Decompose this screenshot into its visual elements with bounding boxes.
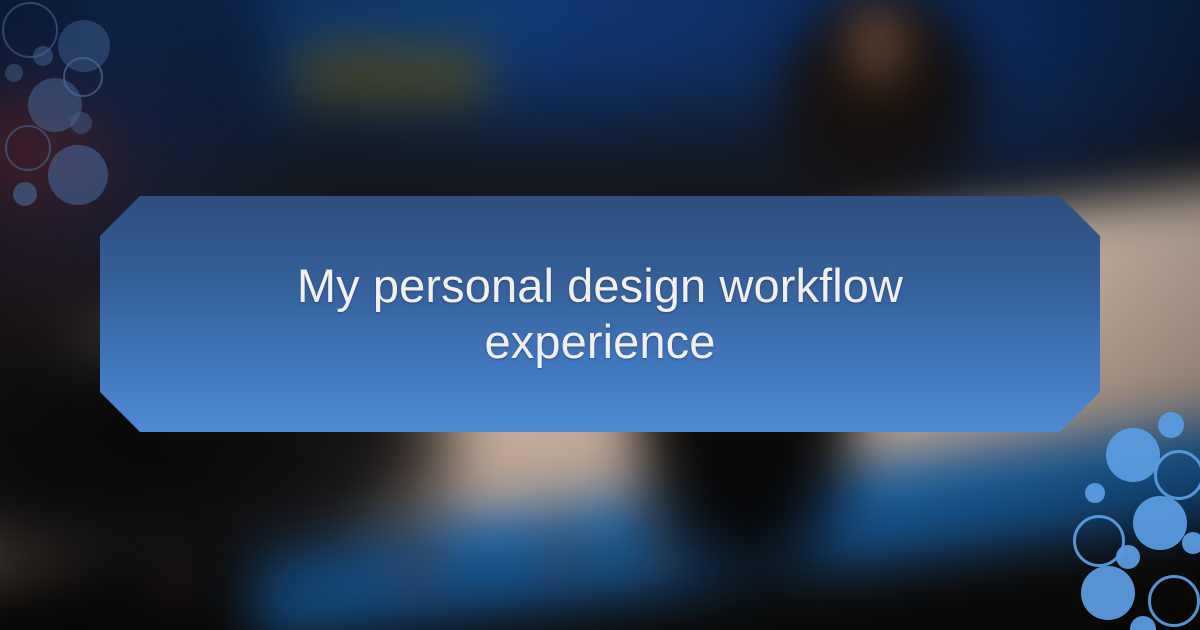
title-banner: My personal design workflow experience [100, 196, 1100, 432]
banner-title-text: My personal design workflow experience [270, 258, 930, 371]
background-pillar [550, 0, 645, 150]
background-pillar [180, 0, 220, 100]
background-pillar [90, 0, 160, 150]
background-pillar [1060, 0, 1140, 180]
background-desk-knob [545, 528, 583, 566]
banner-canvas: My personal design workflow experience [0, 0, 1200, 630]
background-person-face [852, 2, 904, 86]
background-monitor-panel [295, 50, 485, 102]
